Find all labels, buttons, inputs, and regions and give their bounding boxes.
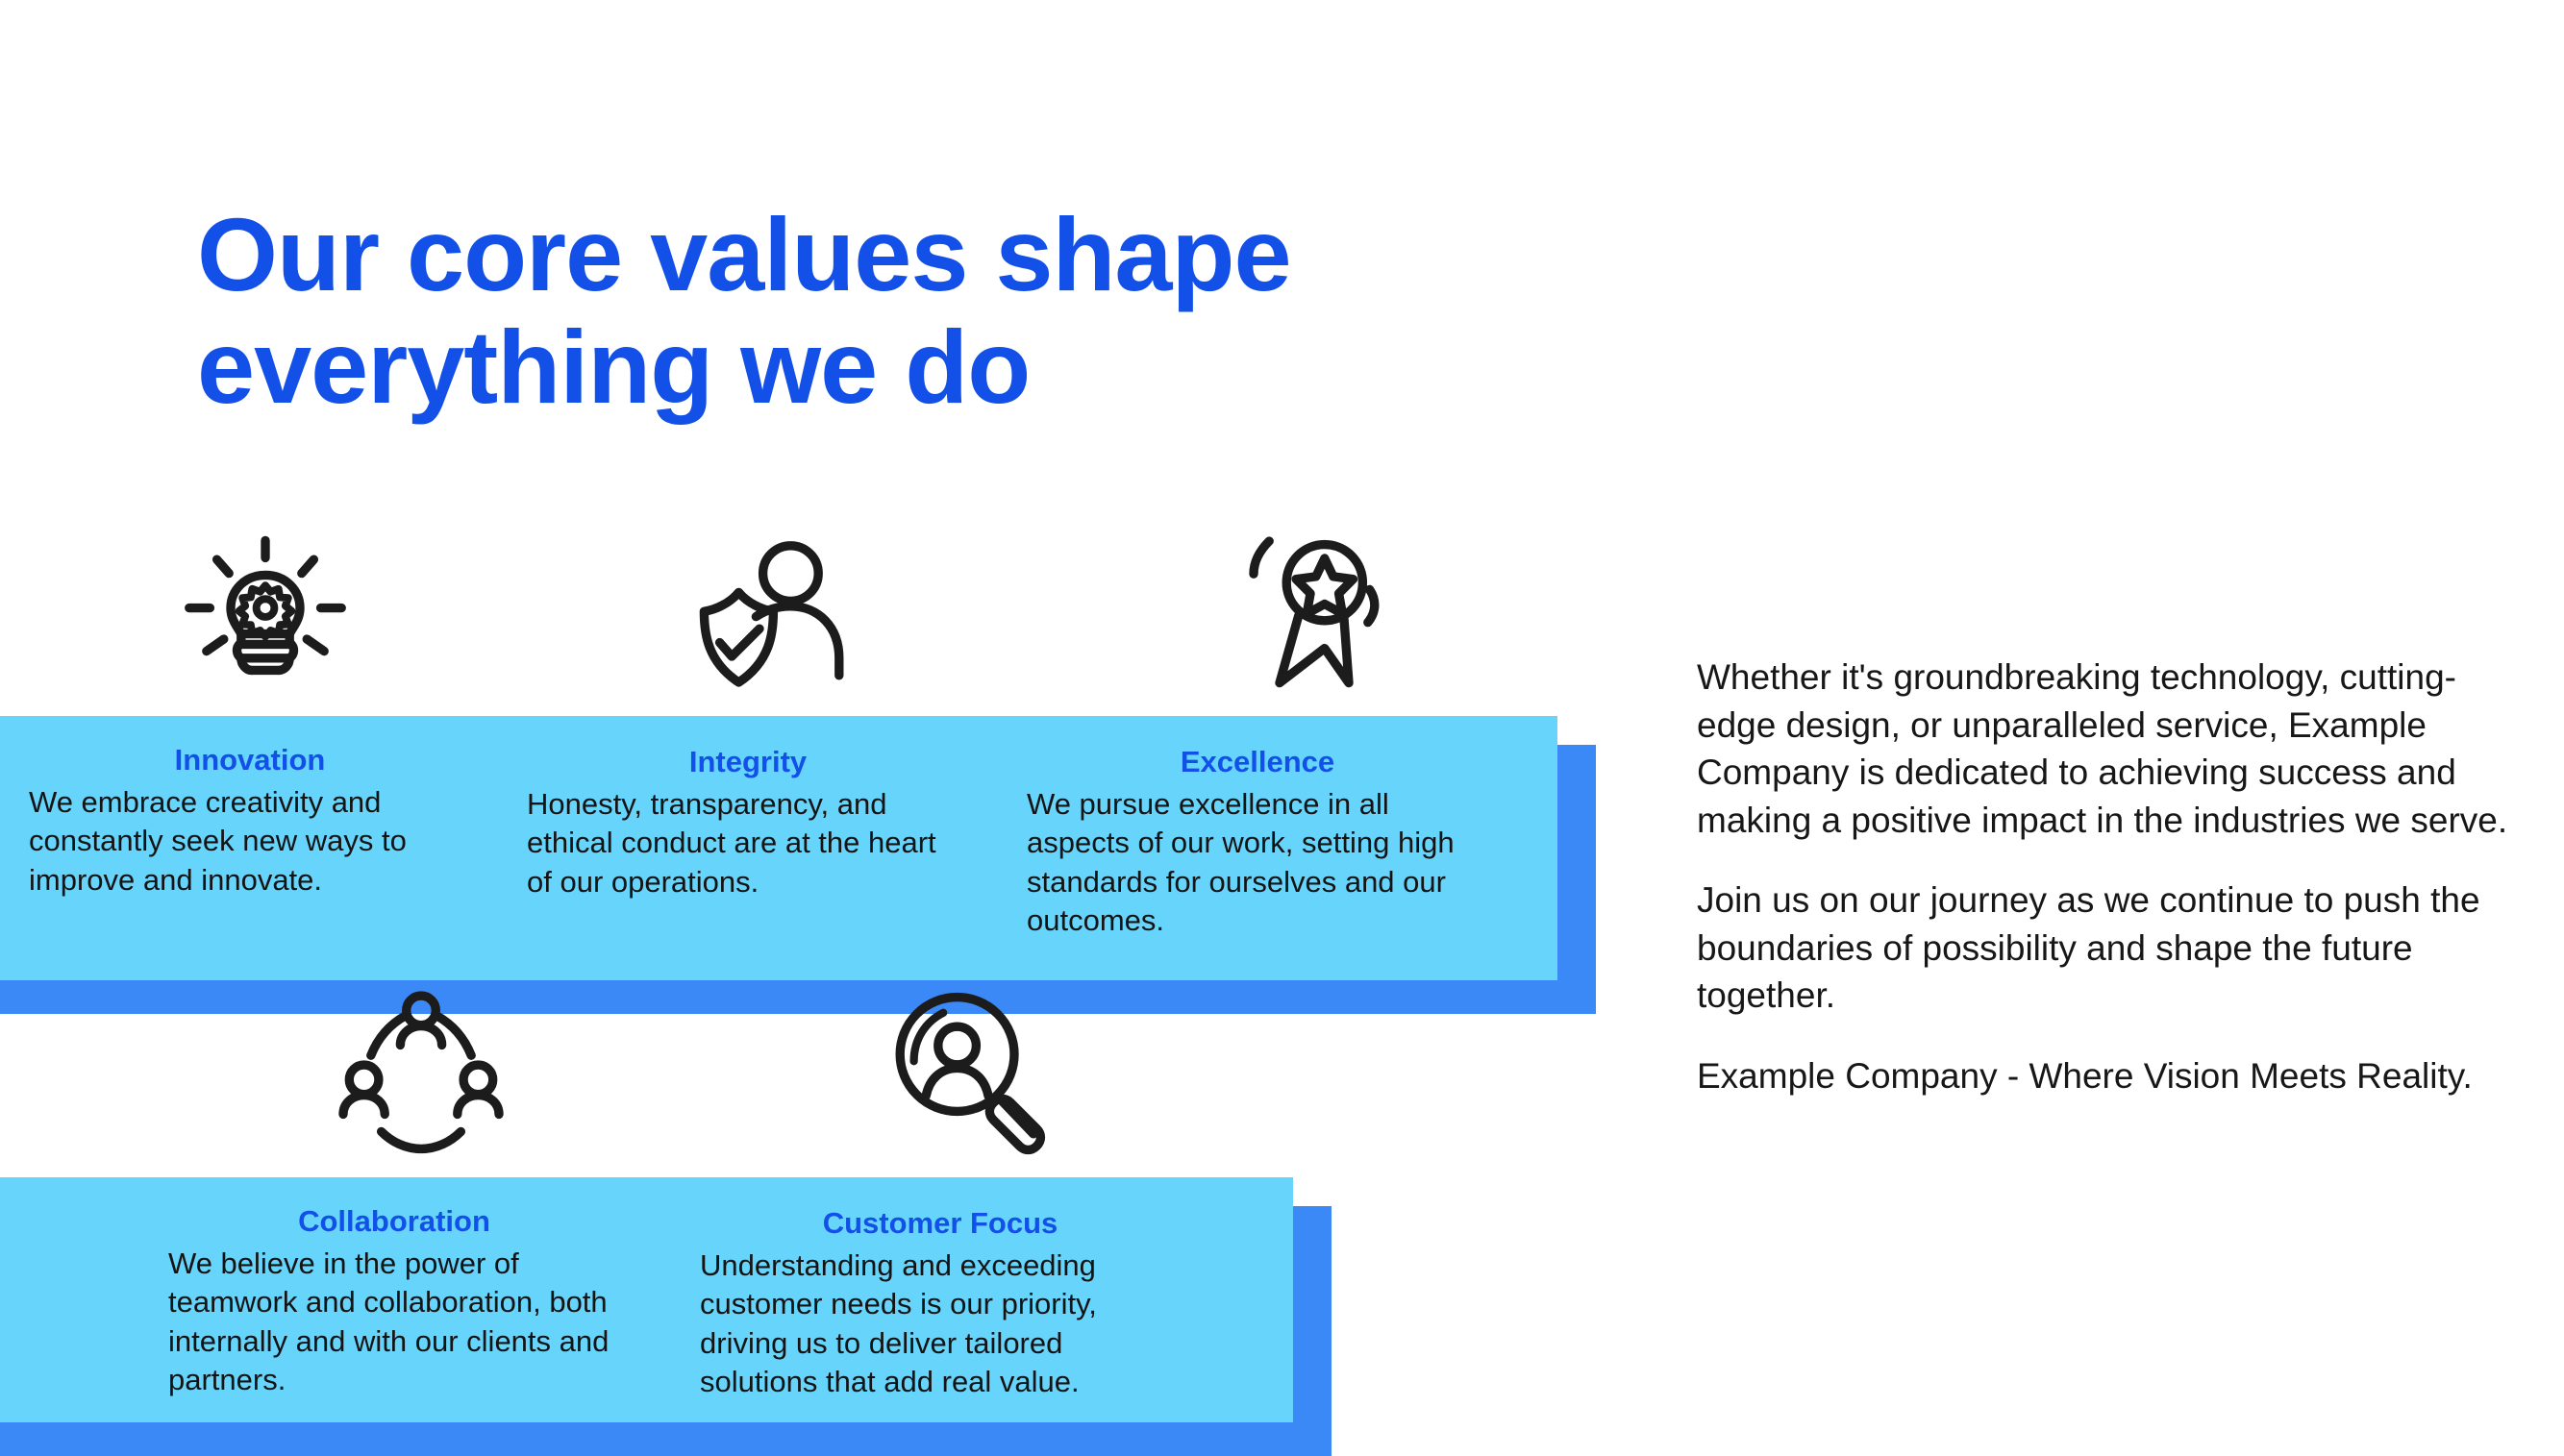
award-ribbon-star-icon xyxy=(1245,524,1418,697)
value-card-customer-focus[interactable]: Customer Focus Understanding and exceedi… xyxy=(700,1206,1181,1401)
values-row-2-band: Collaboration We believe in the power of… xyxy=(0,1177,1346,1456)
magnifier-person-icon xyxy=(884,985,1058,1158)
people-network-circle-icon xyxy=(335,988,508,1161)
page-title-line-2: everything we do xyxy=(197,311,1755,424)
value-card-innovation[interactable]: Innovation We embrace creativity and con… xyxy=(29,743,471,900)
value-description-integrity: Honesty, transparency, and ethical condu… xyxy=(527,785,964,901)
value-title-innovation: Innovation xyxy=(29,743,471,777)
value-title-collaboration: Collaboration xyxy=(168,1204,620,1239)
value-title-integrity: Integrity xyxy=(527,745,969,779)
value-description-excellence: We pursue excellence in all aspects of o… xyxy=(1027,785,1486,940)
value-title-customer-focus: Customer Focus xyxy=(700,1206,1181,1241)
shield-person-check-icon xyxy=(690,527,863,700)
value-title-excellence: Excellence xyxy=(1027,745,1488,779)
value-card-collaboration[interactable]: Collaboration We believe in the power of… xyxy=(168,1204,620,1399)
value-description-customer-focus: Understanding and exceeding customer nee… xyxy=(700,1246,1179,1401)
value-description-innovation: We embrace creativity and constantly see… xyxy=(29,783,466,900)
value-description-collaboration: We believe in the power of teamwork and … xyxy=(168,1245,618,1399)
value-card-integrity[interactable]: Integrity Honesty, transparency, and eth… xyxy=(527,745,969,901)
values-row-1-band: Innovation We embrace creativity and con… xyxy=(0,716,1615,1004)
page-title-line-1: Our core values shape xyxy=(197,199,1755,311)
right-text-column: Whether it's groundbreaking technology, … xyxy=(1697,654,2524,1100)
lightbulb-gear-icon xyxy=(179,527,352,700)
page-title: Our core values shape everything we do xyxy=(197,199,1755,423)
right-paragraph-3: Example Company - Where Vision Meets Rea… xyxy=(1697,1052,2524,1100)
right-paragraph-1: Whether it's groundbreaking technology, … xyxy=(1697,654,2524,844)
value-card-excellence[interactable]: Excellence We pursue excellence in all a… xyxy=(1027,745,1488,940)
right-paragraph-2: Join us on our journey as we continue to… xyxy=(1697,876,2524,1020)
